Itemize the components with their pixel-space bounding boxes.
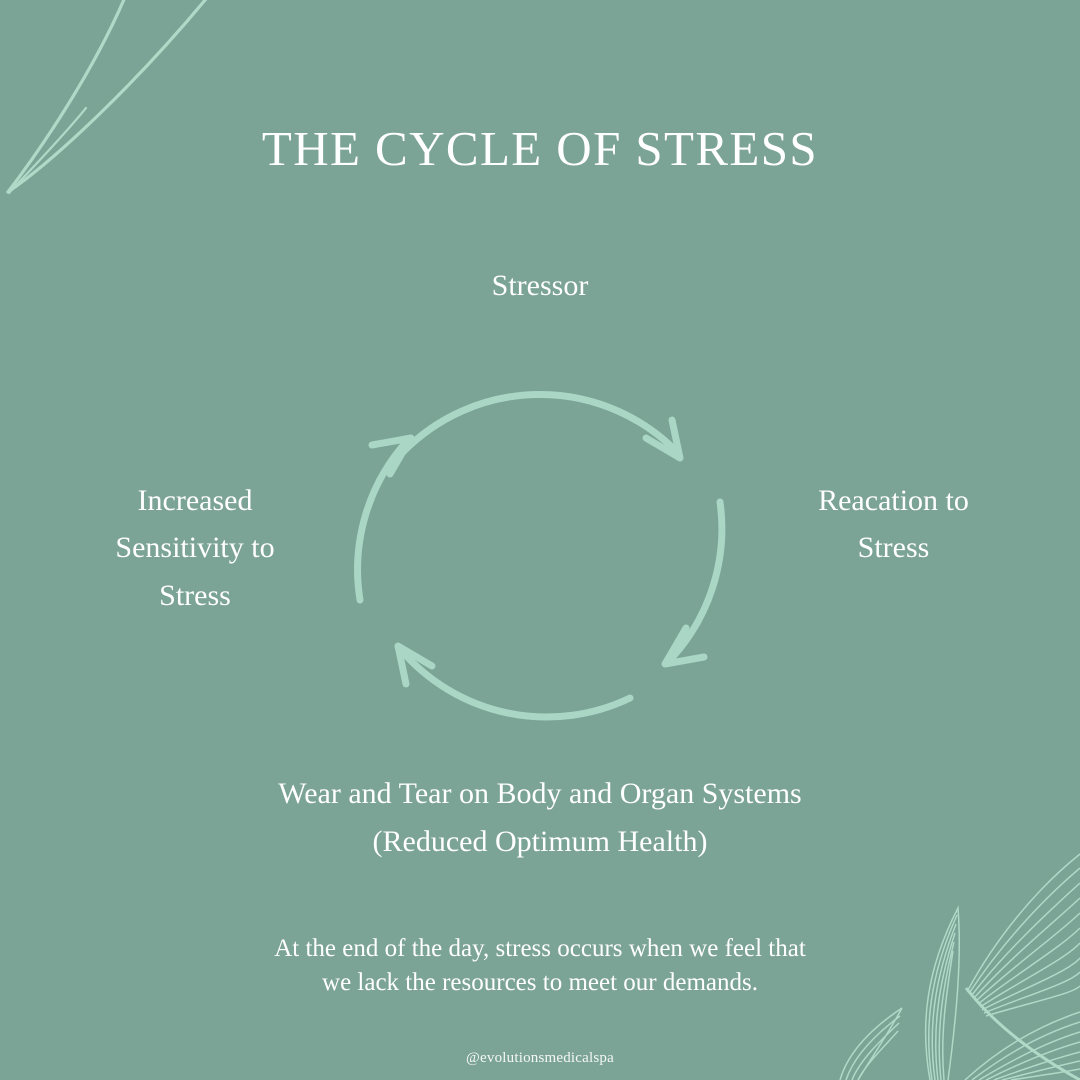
- cycle-arrow-top: [402, 394, 680, 458]
- cycle-node-reaction-line1: Reacation to: [776, 477, 1011, 524]
- cycle-node-reaction: Reacation to Stress: [776, 477, 1011, 572]
- cycle-node-sensitivity-line3: Stress: [70, 572, 320, 619]
- cycle-node-wear: Wear and Tear on Body and Organ Systems …: [150, 770, 930, 866]
- cycle-arrow-right: [665, 502, 722, 664]
- cycle-diagram: [300, 310, 780, 790]
- page-title: THE CYCLE OF STRESS: [0, 122, 1080, 176]
- cycle-node-sensitivity-line2: Sensitivity to: [70, 524, 320, 571]
- poster-canvas: THE CYCLE OF STRESS: [0, 0, 1080, 1080]
- cycle-node-wear-line2: (Reduced Optimum Health): [150, 818, 930, 866]
- cycle-node-stressor: Stressor: [390, 262, 690, 309]
- social-handle: @evolutionsmedicalspa: [0, 1050, 1080, 1067]
- footnote-text: At the end of the day, stress occurs whe…: [140, 932, 940, 1000]
- cycle-arrow-left: [358, 438, 411, 600]
- cycle-node-sensitivity: Increased Sensitivity to Stress: [70, 477, 320, 619]
- cycle-node-stressor-line1: Stressor: [390, 262, 690, 309]
- cycle-node-wear-line1: Wear and Tear on Body and Organ Systems: [150, 770, 930, 818]
- cycle-node-sensitivity-line1: Increased: [70, 477, 320, 524]
- footnote-line1: At the end of the day, stress occurs whe…: [140, 932, 940, 966]
- cycle-node-reaction-line2: Stress: [776, 524, 1011, 571]
- cycle-arrow-bottom: [398, 646, 630, 717]
- footnote-line2: we lack the resources to meet our demand…: [140, 966, 940, 1000]
